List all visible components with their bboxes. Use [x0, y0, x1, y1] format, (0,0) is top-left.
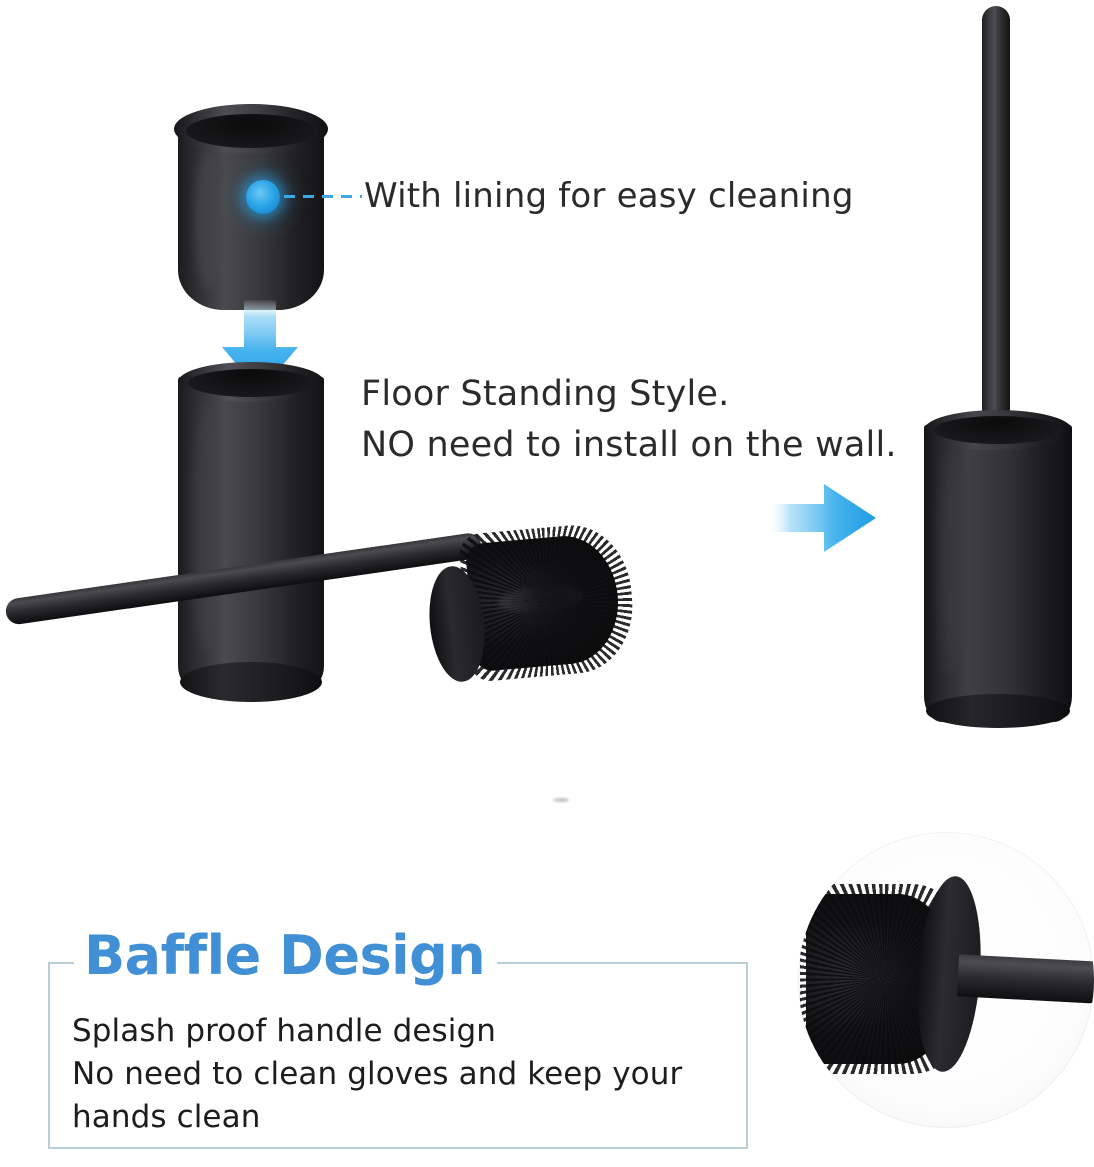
holder-opening — [188, 369, 314, 397]
assembled-handle-rod — [982, 6, 1010, 436]
brush-bristle-head — [465, 532, 624, 672]
assembled-toilet-brush — [908, 6, 1088, 722]
baffle-description-line-2: No need to clean gloves and keep your — [72, 1053, 712, 1096]
lining-callout-dot-icon — [246, 180, 280, 214]
baffle-description-line-1: Splash proof handle design — [72, 1010, 712, 1053]
floor-standing-callout: Floor Standing Style. NO need to install… — [361, 369, 897, 471]
assembled-result-arrow — [766, 478, 876, 558]
closeup-handle-rod — [957, 954, 1094, 1003]
holder-highlight — [192, 402, 216, 652]
assembled-holder-highlight — [940, 446, 962, 676]
holder-base — [180, 662, 322, 702]
assembled-holder-opening — [934, 416, 1062, 444]
floor-standing-line-1: Floor Standing Style. — [361, 369, 897, 420]
liner-cup-highlight — [194, 150, 220, 290]
lining-callout-leader-line — [284, 195, 362, 198]
baffle-design-title: Baffle Design — [74, 925, 497, 987]
liner-cup-opening — [186, 114, 316, 148]
brush-head-closeup-inset — [798, 832, 1094, 1128]
image-speck-artifact — [553, 798, 569, 802]
baffle-design-description: Splash proof handle design No need to cl… — [72, 1010, 712, 1139]
lining-callout-label: With lining for easy cleaning — [364, 176, 854, 216]
baffle-description-line-3: hands clean — [72, 1096, 712, 1139]
floor-standing-line-2: NO need to install on the wall. — [361, 420, 897, 471]
outer-holder-cylinder — [178, 362, 324, 702]
product-infographic: With lining for easy cleaning Floor Stan… — [0, 0, 1094, 1167]
assembled-holder-base — [926, 694, 1070, 728]
